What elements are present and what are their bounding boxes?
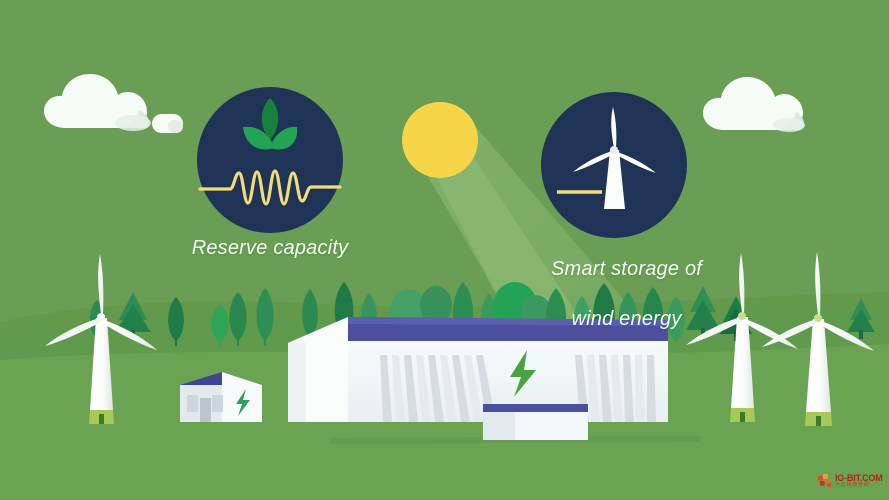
sun — [402, 102, 478, 178]
watermark-logo-icon — [818, 474, 833, 489]
badge-label-smart-storage: Smart storage of wind energy — [510, 232, 720, 357]
sky-layer — [0, 0, 889, 500]
watermark-subtitle: 大比特商务网 — [835, 483, 880, 488]
watermark: IG-BIT.COM 大比特商务网 — [818, 471, 884, 491]
cloud-left-small — [152, 114, 183, 133]
illustration-canvas: Reserve capacity Smart storage of wind e… — [0, 0, 889, 500]
badge-label-smart-line2: wind energy — [571, 308, 681, 330]
cloud-left-large — [44, 74, 151, 131]
badge-reserve-capacity[interactable] — [197, 87, 343, 233]
cloud-right — [703, 77, 805, 132]
badge-smart-storage[interactable] — [541, 92, 687, 238]
badge-label-smart-line1: Smart storage of — [551, 258, 702, 280]
badge-label-reserve-capacity: Reserve capacity — [170, 236, 370, 261]
